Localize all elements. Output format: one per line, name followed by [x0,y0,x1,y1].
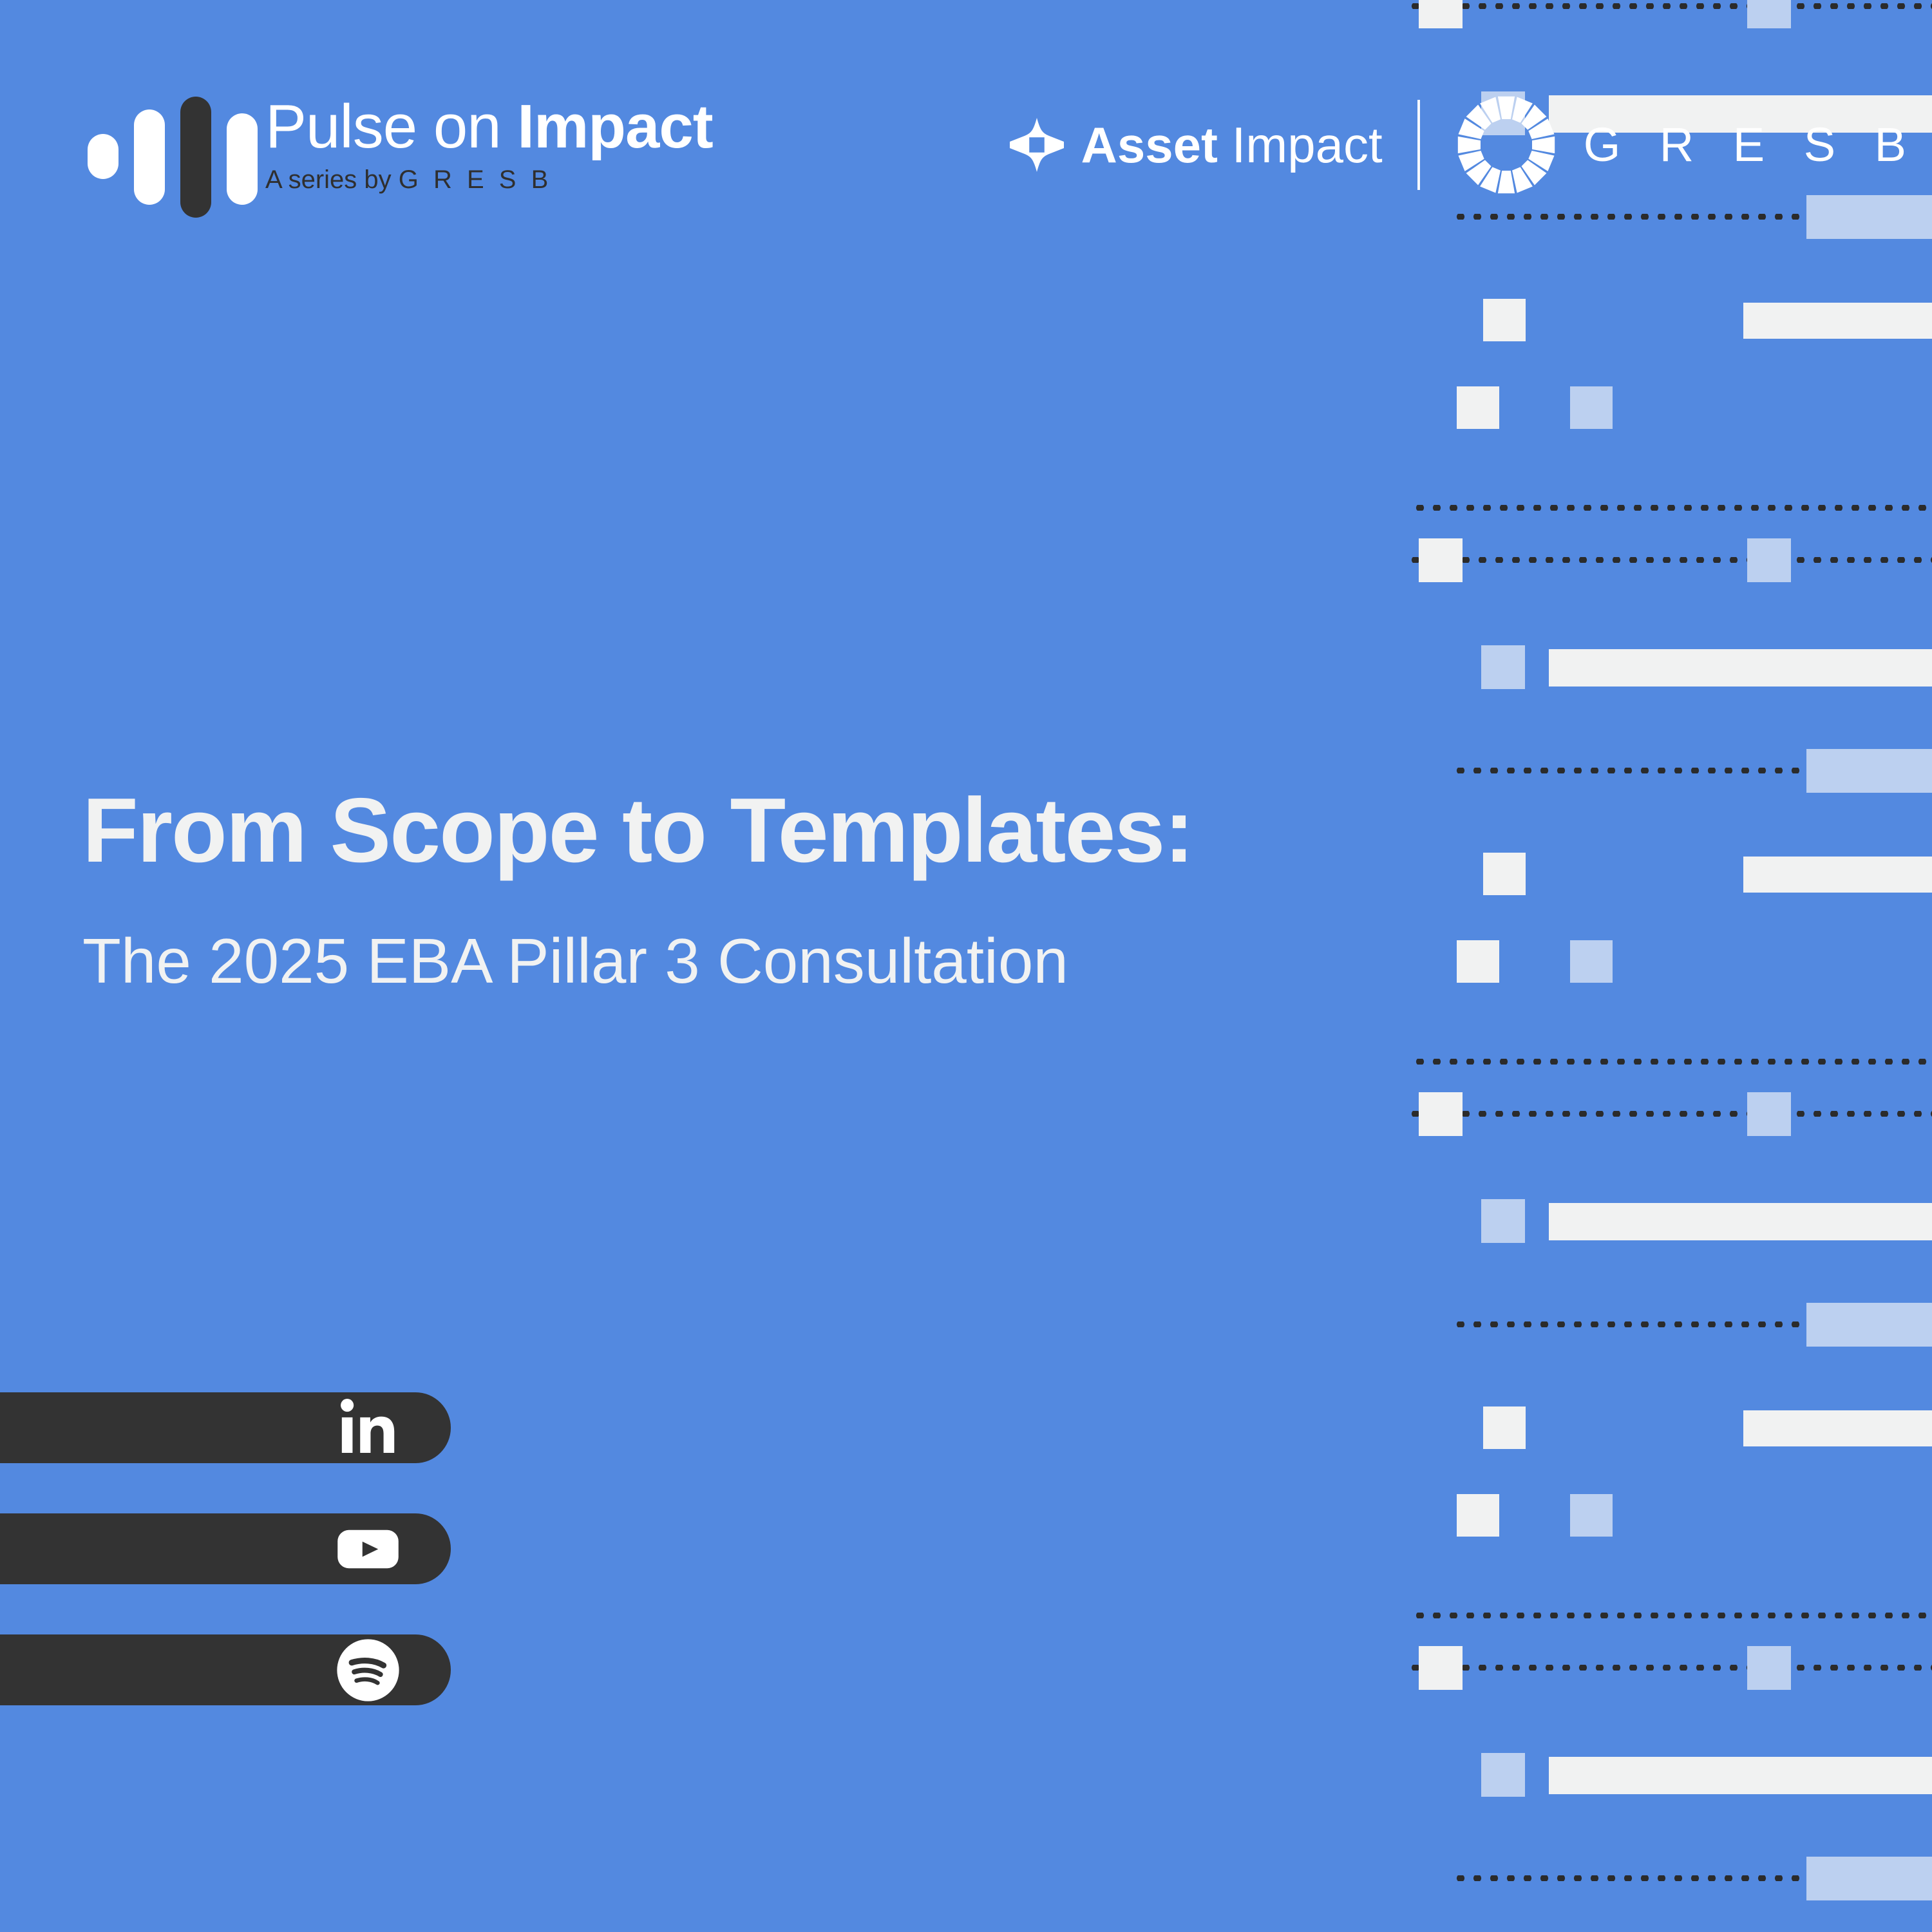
header: Pulse on Impact A series by G R E S B As… [0,0,1932,232]
pattern-rect [1481,645,1525,689]
asset-impact-wordmark: Asset Impact [1081,118,1382,172]
pattern-rect [1743,857,1932,893]
series-title-bold: Impact [517,92,712,161]
pattern-rect [1483,1406,1526,1449]
title-block: From Scope to Templates: The 2025 EBA Pi… [82,782,1370,996]
pattern-rect [1419,1646,1463,1690]
waveform-bar-2 [134,109,165,205]
social-links-rail [0,1392,451,1705]
asset-impact-name-bold: Asset [1081,117,1217,173]
pattern-dotted-line [1452,1875,1803,1881]
social-link-linkedin[interactable] [0,1392,451,1463]
pattern-rect [1806,749,1932,793]
pattern-rect [1481,1199,1525,1243]
pattern-rect [1457,940,1499,983]
pattern-rect [1570,1494,1613,1537]
waveform-bar-3 [180,97,211,218]
pattern-dotted-line [1407,1111,1932,1117]
pattern-rect [1570,386,1613,429]
pattern-dotted-line [1412,505,1932,511]
pattern-rect [1481,1753,1525,1797]
pattern-rect [1806,1303,1932,1347]
pattern-dotted-line [1407,557,1932,563]
pattern-rect [1549,649,1932,687]
series-subtitle-prefix: A series by [265,166,399,194]
pulse-waveform-icon [82,97,250,216]
pattern-rect [1419,538,1463,582]
pattern-dotted-line [1452,768,1803,773]
series-title: Pulse on Impact [265,93,713,160]
pattern-dotted-line [1412,1613,1932,1618]
gresb-sunburst-icon [1455,93,1558,196]
pattern-rect [1747,1092,1791,1136]
pattern-rect [1743,1410,1932,1446]
pattern-rect [1570,940,1613,983]
waveform-bar-1 [88,134,118,179]
asset-impact-name-regular: Impact [1218,117,1383,173]
pattern-rect [1743,303,1932,339]
gresb-wordmark: G R E S B [1584,119,1919,171]
pattern-rect [1747,538,1791,582]
series-subtitle: A series by G R E S B [265,163,713,196]
pattern-dotted-line [1412,1059,1932,1065]
decorative-bar-pattern [1385,0,1932,1932]
pattern-dotted-line [1452,1321,1803,1327]
pattern-rect [1549,1203,1932,1240]
social-link-youtube[interactable] [0,1513,451,1584]
pattern-rect [1483,299,1526,341]
youtube-icon [334,1515,402,1583]
asset-impact-plus-icon [1010,118,1064,172]
social-link-spotify[interactable] [0,1634,451,1705]
vertical-divider [1417,100,1420,190]
pattern-rect [1457,1494,1499,1537]
pattern-rect [1549,1757,1932,1794]
asset-impact-logo: Asset Impact [1010,118,1382,172]
gresb-logo: G R E S B [1455,93,1932,196]
pattern-rect [1457,386,1499,429]
series-wordmark: Pulse on Impact A series by G R E S B [265,93,713,196]
waveform-bar-4 [227,113,258,205]
linkedin-icon [334,1394,402,1462]
page-title: From Scope to Templates: [82,782,1370,879]
pattern-rect [1747,1646,1791,1690]
spotify-icon [334,1636,402,1704]
partner-logos: Asset Impact G R E S B [1010,97,1932,193]
pattern-rect [1483,853,1526,895]
pattern-dotted-line [1407,1665,1932,1671]
page-subtitle: The 2025 EBA Pillar 3 Consultation [82,925,1370,996]
series-title-regular: Pulse on [265,92,517,161]
pattern-rect [1806,1857,1932,1900]
pattern-rect [1419,1092,1463,1136]
series-subtitle-brand: G R E S B [399,166,553,194]
